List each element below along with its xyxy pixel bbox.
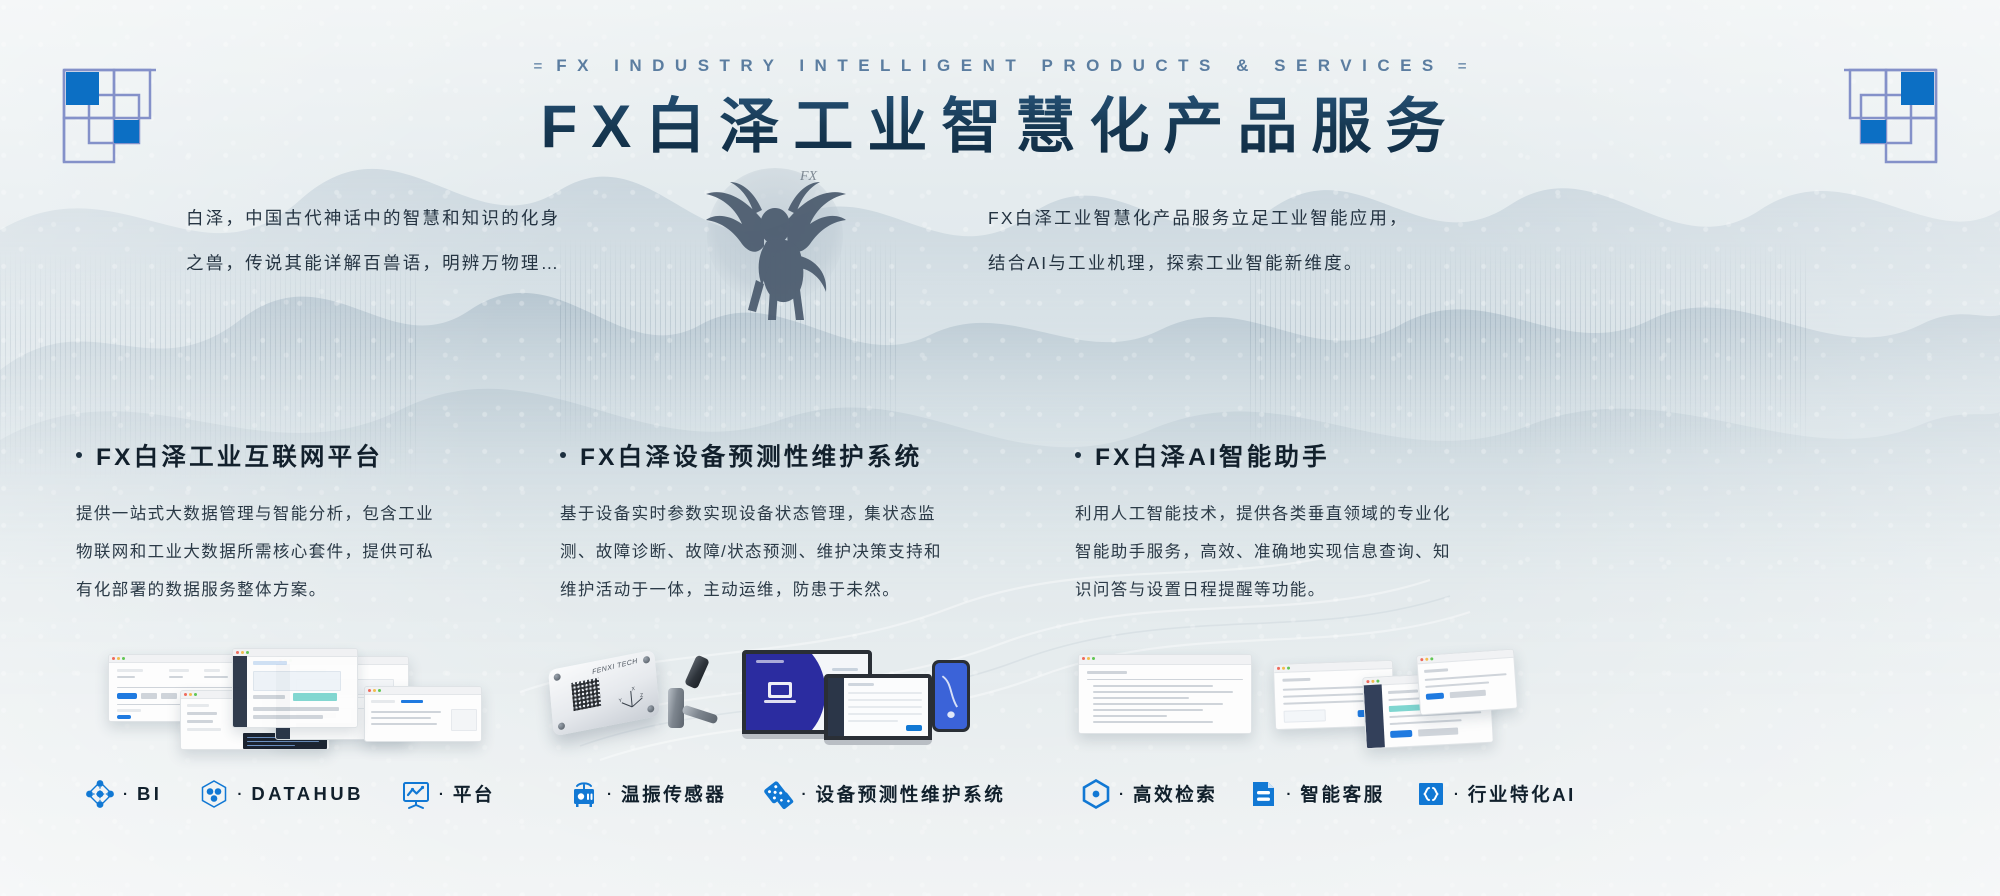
separator-dot: · — [1454, 786, 1459, 803]
section-column-1: FX白泽工业互联网平台 提供一站式大数据管理与智能分析，包含工业 物联网和工业大… — [76, 438, 556, 609]
feature-item-sensor[interactable]: · 温振传感器 — [568, 778, 727, 810]
intro-right-line-2: 结合AI与工业机理，探索工业智能新维度。 — [988, 241, 1409, 286]
column-2-body-line-3: 维护活动于一体，主动运维，防患于未然。 — [560, 571, 1060, 609]
feature-item-industry-ai[interactable]: · 行业特化AI — [1415, 778, 1576, 810]
column-1-body: 提供一站式大数据管理与智能分析，包含工业 物联网和工业大数据所需核心套件，提供可… — [76, 495, 556, 609]
feature-item-smart-service[interactable]: · 智能客服 — [1247, 778, 1384, 810]
feature-item-efficient-search[interactable]: · 高效检索 — [1080, 778, 1217, 810]
column-3-heading-text: FX白泽AI智能助手 — [1095, 438, 1330, 473]
analytics-board-icon — [400, 778, 432, 810]
eyebrow-text: FX INDUSTRY INTELLIGENT PRODUCTS & SERVI… — [556, 56, 1444, 75]
device-image-group: FENXI TECH XYZ — [540, 636, 1010, 756]
intro-left-line-2: 之兽，传说其能详解百兽语，明辨万物理… — [186, 241, 560, 286]
bullet-dot-icon — [76, 452, 82, 458]
column-2-body-line-2: 测、故障诊断、故障/状态预测、维护决策支持和 — [560, 533, 1060, 571]
tablet-device — [824, 674, 932, 745]
vibration-temperature-sensor: FENXI TECH XYZ — [548, 650, 660, 737]
separator-dot: · — [802, 786, 807, 803]
feature-item-platform[interactable]: · 平台 — [400, 778, 495, 810]
mock-sidebar — [1364, 684, 1385, 748]
bullet-dot-icon — [1075, 452, 1081, 458]
column-1-heading-text: FX白泽工业互联网平台 — [96, 438, 383, 473]
platform-screenshot-group — [80, 648, 480, 748]
separator-dot: · — [1119, 786, 1124, 803]
feature-label: 设备预测性维护系统 — [816, 781, 1006, 807]
feature-label: DATAHUB — [251, 783, 364, 805]
eyebrow-dash-left: = — [519, 58, 556, 75]
qr-code — [571, 678, 601, 711]
axis-diagram: XYZ — [618, 684, 645, 711]
svg-text:Y: Y — [618, 698, 622, 705]
feature-label: 行业特化AI — [1468, 781, 1576, 807]
poster-canvas: =FX INDUSTRY INTELLIGENT PRODUCTS & SERV… — [0, 0, 2000, 896]
cylinder-sensor-2 — [681, 705, 718, 725]
intro-right-line-1: FX白泽工业智慧化产品服务立足工业智能应用， — [988, 196, 1409, 241]
ai-assistant-screenshot-group — [1078, 640, 1518, 750]
curly-braces-icon — [1415, 778, 1447, 810]
window-titlebar — [365, 687, 481, 695]
column-1-body-line-1: 提供一站式大数据管理与智能分析，包含工业 — [76, 495, 556, 533]
separator-dot: · — [607, 786, 612, 803]
separator-dot: · — [123, 786, 128, 803]
document-chat-icon — [1247, 778, 1279, 810]
network-nodes-icon — [84, 778, 116, 810]
bullet-dot-icon — [560, 452, 566, 458]
eyebrow-dash-right: = — [1444, 58, 1481, 75]
feature-label: BI — [137, 783, 162, 805]
column-3-body: 利用人工智能技术，提供各类垂直领域的专业化 智能助手服务，高效、准确地实现信息查… — [1075, 495, 1575, 609]
window-titlebar — [233, 649, 357, 657]
svg-text:Z: Z — [640, 693, 644, 700]
mock-sidebar — [233, 656, 247, 727]
section-column-3: FX白泽AI智能助手 利用人工智能技术，提供各类垂直领域的专业化 智能助手服务，… — [1075, 438, 1575, 609]
column-3-body-line-2: 智能助手服务，高效、准确地实现信息查询、知 — [1075, 533, 1575, 571]
feature-label: 平台 — [453, 781, 495, 807]
hexagon-molecule-icon — [198, 778, 230, 810]
intro-left: 白泽，中国古代神话中的智慧和知识的化身 之兽，传说其能详解百兽语，明辨万物理… — [186, 196, 560, 286]
feature-label: 高效检索 — [1133, 781, 1217, 807]
window-titlebar — [1079, 655, 1251, 665]
column-1-icon-row: · BI · DATAHUB · 平台 — [84, 778, 495, 810]
sensor-brand-text: FENXI TECH — [592, 658, 638, 676]
mock-window-4 — [364, 686, 482, 742]
column-2-body-line-1: 基于设备实时参数实现设备状态管理，集状态监 — [560, 495, 1060, 533]
column-2-icon-row: · 温振传感器 · 设备预测性维护系统 — [568, 778, 1005, 810]
probe-sensor — [684, 655, 710, 690]
mock-window-6 — [1078, 654, 1252, 734]
column-2-body: 基于设备实时参数实现设备状态管理，集状态监 测、故障诊断、故障/状态预测、维护决… — [560, 495, 1060, 609]
column-3-heading: FX白泽AI智能助手 — [1075, 438, 1575, 473]
separator-dot: · — [237, 786, 242, 803]
feature-label: 温振传感器 — [621, 781, 727, 807]
emblem-mark-text: FX — [799, 169, 818, 184]
feature-item-predictive-maintenance[interactable]: · 设备预测性维护系统 — [763, 778, 1006, 810]
column-3-body-line-3: 识问答与设置日程提醒等功能。 — [1075, 571, 1575, 609]
tablet-screen — [824, 674, 932, 740]
intro-right: FX白泽工业智慧化产品服务立足工业智能应用， 结合AI与工业机理，探索工业智能新… — [988, 196, 1409, 286]
hexagon-target-icon — [1080, 778, 1112, 810]
separator-dot: · — [439, 786, 444, 803]
column-3-icon-row: · 高效检索 · 智能客服 — [1080, 778, 1576, 810]
window-titlebar — [109, 655, 247, 663]
svg-text:X: X — [631, 686, 635, 693]
separator-dot: · — [1286, 786, 1291, 803]
sensor-device-icon — [568, 778, 600, 810]
page-title: FX白泽工业智慧化产品服务 — [0, 78, 2000, 165]
feature-item-datahub[interactable]: · DATAHUB — [198, 778, 364, 810]
phone-device — [932, 660, 970, 732]
column-3-body-line-1: 利用人工智能技术，提供各类垂直领域的专业化 — [1075, 495, 1575, 533]
bai-ze-emblem: FX — [680, 148, 870, 338]
section-column-2: FX白泽设备预测性维护系统 基于设备实时参数实现设备状态管理，集状态监 测、故障… — [560, 438, 1060, 609]
window-titlebar — [1417, 650, 1513, 665]
dice-predictive-icon — [763, 778, 795, 810]
cylinder-sensor-1 — [668, 688, 684, 728]
column-1-heading: FX白泽工业互联网平台 — [76, 438, 556, 473]
column-1-body-line-3: 有化部署的数据服务整体方案。 — [76, 571, 556, 609]
phone-screen — [935, 663, 967, 729]
mock-window-5 — [232, 648, 358, 728]
column-2-heading: FX白泽设备预测性维护系统 — [560, 438, 1060, 473]
tablet-base — [824, 740, 932, 745]
window-titlebar — [1274, 661, 1392, 673]
column-2-heading-text: FX白泽设备预测性维护系统 — [580, 438, 922, 473]
feature-item-bi[interactable]: · BI — [84, 778, 162, 810]
intro-left-line-1: 白泽，中国古代神话中的智慧和知识的化身 — [186, 196, 560, 241]
mock-window-9 — [1416, 649, 1518, 716]
feature-label: 智能客服 — [1300, 781, 1384, 807]
column-1-body-line-2: 物联网和工业大数据所需核心套件，提供可私 — [76, 533, 556, 571]
eyebrow-tagline: =FX INDUSTRY INTELLIGENT PRODUCTS & SERV… — [0, 56, 2000, 76]
